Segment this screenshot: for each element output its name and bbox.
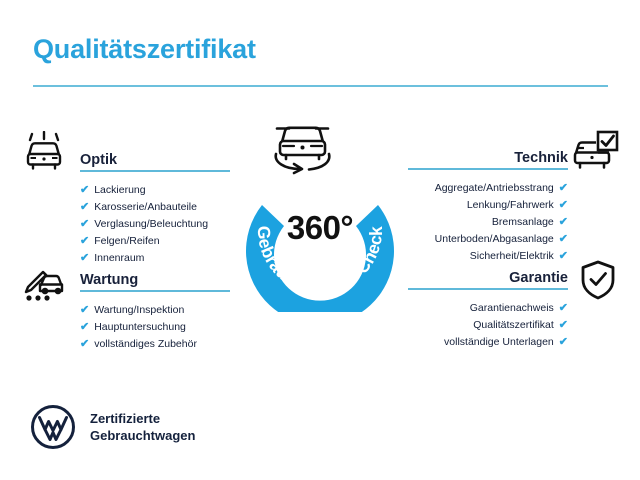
section-optik-underline [80,170,230,172]
list-item: vollständige Unterlagen✔ [408,334,568,351]
section-optik-heading: Optik [80,152,117,168]
page-title: Qualitätszertifikat [33,34,256,65]
list-item-label: Unterboden/Abgasanlage [435,231,554,248]
vw-roundel-logo [30,404,76,450]
list-item: ✔vollständiges Zubehör [80,336,230,353]
list-item-label: Karosserie/Anbauteile [94,199,197,216]
check-icon: ✔ [80,219,89,230]
check-icon: ✔ [559,337,568,348]
shield-check-icon [578,259,618,306]
check-icon: ✔ [80,185,89,196]
list-item: Unterboden/Abgasanlage✔ [408,231,568,248]
list-item-label: Bremsanlage [492,214,554,231]
list-item: Garantienachweis✔ [408,300,568,317]
check-icon: ✔ [80,253,89,264]
list-item-label: vollständige Unterlagen [444,334,554,351]
section-technik-header: Technik [408,144,568,170]
list-item: ✔Wartung/Inspektion [80,302,230,319]
section-garantie-underline [408,288,568,290]
check-icon: ✔ [80,305,89,316]
list-item: ✔Verglasung/Beleuchtung [80,216,230,233]
section-optik: Optik ✔Lackierung ✔Karosserie/Anbauteile… [80,146,230,267]
check-icon: ✔ [80,339,89,350]
section-wartung-list: ✔Wartung/Inspektion ✔Hauptuntersuchung ✔… [80,302,230,353]
check-icon: ✔ [559,183,568,194]
footer-text: Zertifizierte Gebrauchtwagen [90,410,195,444]
list-item: ✔Karosserie/Anbauteile [80,199,230,216]
badge-360-check: Gebrauchtwagen-Check 360° [225,112,415,312]
list-item-label: Garantienachweis [470,300,554,317]
list-item-label: Lenkung/Fahrwerk [467,197,554,214]
section-wartung-underline [80,290,230,292]
section-garantie: Garantie Garantienachweis✔ Qualitätszert… [408,264,568,351]
car-checkbox-icon [572,130,620,177]
section-technik-underline [408,168,568,170]
section-wartung: Wartung ✔Wartung/Inspektion ✔Hauptunters… [80,266,230,353]
list-item-label: Verglasung/Beleuchtung [94,216,208,233]
list-item: ✔Hauptuntersuchung [80,319,230,336]
list-item: Lenkung/Fahrwerk✔ [408,197,568,214]
badge-center-label: 360° [225,209,415,247]
section-optik-header: Optik [80,146,230,172]
section-wartung-heading: Wartung [80,272,138,288]
list-item-label: Innenraum [94,250,144,267]
list-item-label: Wartung/Inspektion [94,302,184,319]
section-garantie-heading: Garantie [509,270,568,286]
section-garantie-list: Garantienachweis✔ Qualitätszertifikat✔ v… [408,300,568,351]
list-item-label: Hauptuntersuchung [94,319,186,336]
check-icon: ✔ [80,236,89,247]
list-item-label: Aggregate/Antriebsstrang [435,180,554,197]
car-shine-icon [22,131,66,178]
section-wartung-header: Wartung [80,266,230,292]
section-technik: Technik Aggregate/Antriebsstrang✔ Lenkun… [408,144,568,265]
check-icon: ✔ [559,234,568,245]
footer-line-2: Gebrauchtwagen [90,427,195,444]
section-technik-list: Aggregate/Antriebsstrang✔ Lenkung/Fahrwe… [408,180,568,265]
car-service-pen-icon [22,261,68,310]
list-item: Qualitätszertifikat✔ [408,317,568,334]
list-item: Bremsanlage✔ [408,214,568,231]
list-item-label: Qualitätszertifikat [473,317,554,334]
check-icon: ✔ [559,251,568,262]
list-item: ✔Felgen/Reifen [80,233,230,250]
footer-brand: Zertifizierte Gebrauchtwagen [30,404,195,450]
check-icon: ✔ [559,217,568,228]
title-divider [33,85,608,87]
list-item: Sicherheit/Elektrik✔ [408,248,568,265]
section-garantie-header: Garantie [408,264,568,290]
list-item-label: Lackierung [94,182,145,199]
list-item-label: vollständiges Zubehör [94,336,197,353]
check-icon: ✔ [559,200,568,211]
footer-line-1: Zertifizierte [90,410,195,427]
certificate-page: Qualitätszertifikat [0,0,640,480]
list-item: ✔Innenraum [80,250,230,267]
section-technik-heading: Technik [514,150,568,166]
check-icon: ✔ [559,303,568,314]
list-item-label: Felgen/Reifen [94,233,159,250]
check-icon: ✔ [559,320,568,331]
list-item-label: Sicherheit/Elektrik [470,248,554,265]
check-icon: ✔ [80,202,89,213]
list-item: Aggregate/Antriebsstrang✔ [408,180,568,197]
section-optik-list: ✔Lackierung ✔Karosserie/Anbauteile ✔Verg… [80,182,230,267]
check-icon: ✔ [80,322,89,333]
list-item: ✔Lackierung [80,182,230,199]
